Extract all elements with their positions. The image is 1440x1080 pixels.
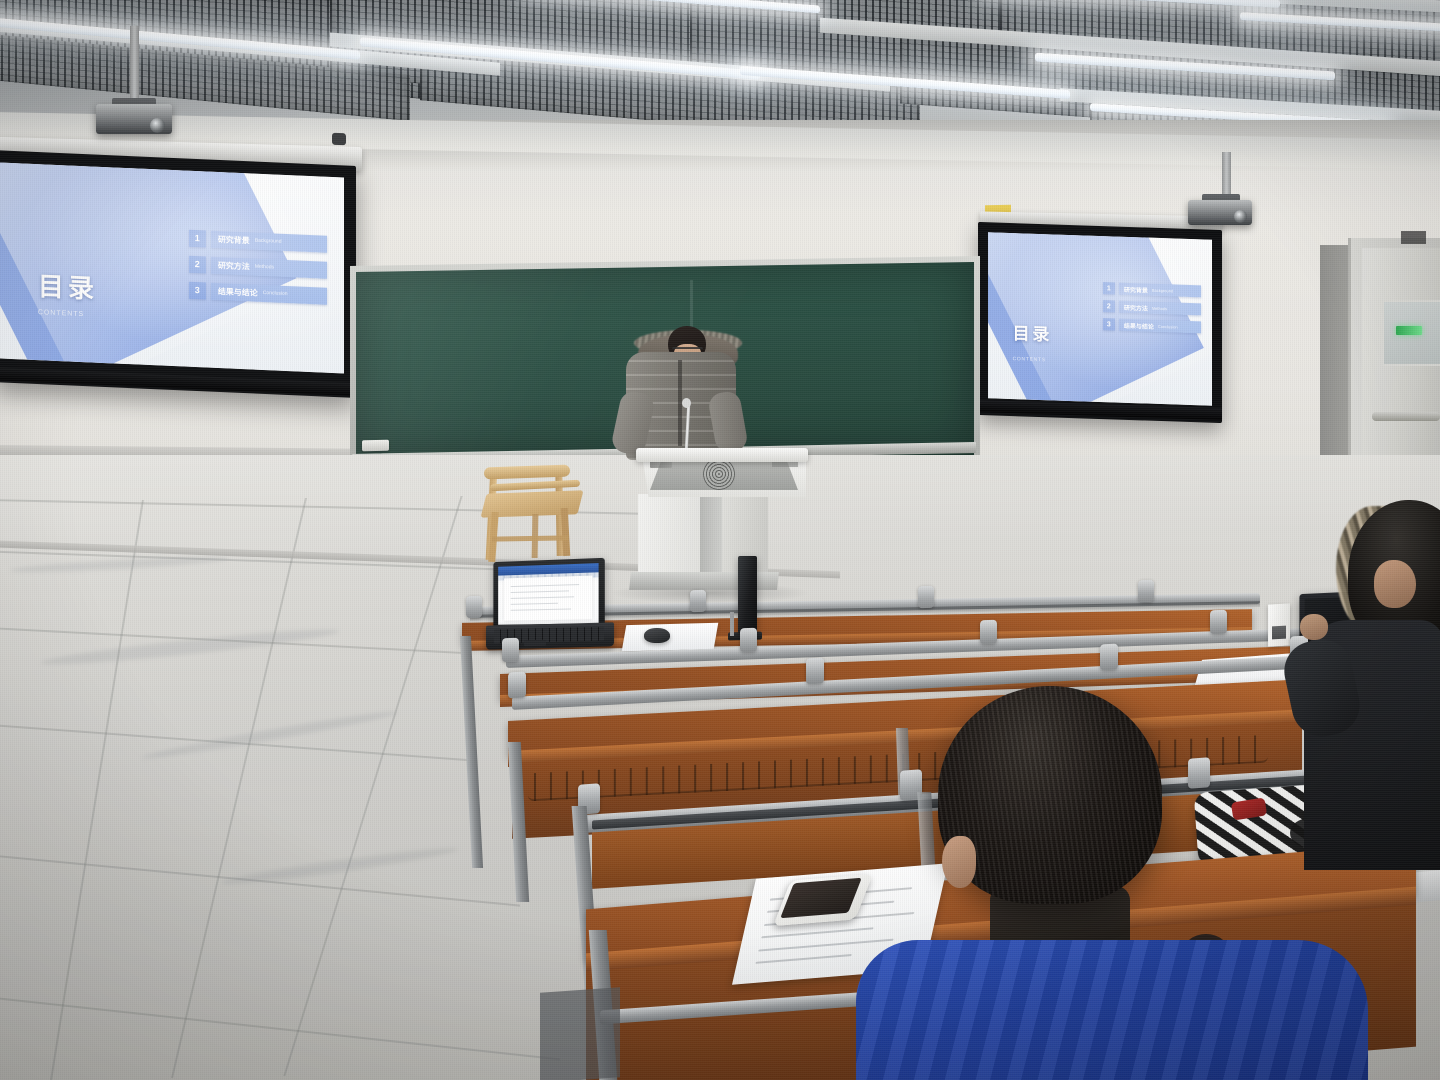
computer-mouse[interactable] (644, 628, 670, 643)
toc-label-cn: 结果与结论 (1124, 321, 1154, 331)
right-student-face (1374, 560, 1416, 608)
desk-bracket (980, 620, 997, 645)
toc-bar: 研究方法 Methods (211, 256, 327, 278)
podium-worktop (636, 448, 808, 462)
toc-label-en: Methods (255, 264, 274, 271)
toc-bar: 研究方法 Methods (1119, 301, 1201, 316)
projector-lens-icon (150, 118, 165, 133)
desk-shadow-area (540, 987, 620, 1080)
document-text-line (511, 590, 569, 593)
desk-bracket (466, 596, 482, 618)
student-ear (942, 836, 976, 888)
toc-label-cn: 研究背景 (1124, 285, 1148, 295)
slide-title-cn: 目录 (1013, 319, 1052, 345)
toc-label-en: Conclusion (263, 290, 288, 297)
podium-column-shade (700, 494, 722, 580)
desk-bracket (690, 590, 706, 612)
projector-lens-icon (1234, 210, 1247, 223)
desk-bracket (502, 638, 519, 663)
laptop-trackpad[interactable] (524, 640, 546, 647)
speaker-stand-pole (730, 612, 734, 636)
toc-label-en: Methods (1152, 306, 1167, 312)
podium-label (772, 462, 798, 467)
door-push-bar[interactable] (1372, 412, 1440, 421)
document-text-line (511, 603, 558, 605)
microphone-icon (682, 398, 691, 408)
laptop-screen (498, 563, 598, 625)
left-projection-screen: 目录 CONTENTS 1 研究背景 Background 2 研究方法 Met… (0, 162, 344, 373)
toc-label-en: Conclusion (1158, 324, 1178, 330)
lecture-hall-photo: 目录 CONTENTS 1 研究背景 Background 2 研究方法 Met… (0, 0, 1440, 1080)
slide-contents: 目录 CONTENTS 1 研究背景 Background 2 研究方法 Met… (0, 162, 344, 373)
toc-number: 2 (189, 256, 206, 274)
slide-title-en: CONTENTS (1013, 356, 1046, 363)
paper-sheet (622, 623, 719, 652)
document-text-line (511, 596, 574, 599)
toc-number: 1 (189, 230, 206, 248)
desk-bracket (508, 672, 526, 699)
toc-number: 3 (189, 282, 206, 300)
desk-bracket (1100, 644, 1118, 671)
toc-bar: 研究背景 Background (211, 230, 327, 252)
toc-label-cn: 结果与结论 (218, 286, 258, 299)
door-placard (1401, 231, 1426, 244)
toc-bar: 研究背景 Background (1119, 283, 1201, 298)
chalk-eraser (362, 440, 389, 452)
toc-label-en: Background (1152, 288, 1173, 294)
student-jacket-texture (856, 940, 1368, 1080)
desk-bracket (806, 658, 824, 685)
toc-label-cn: 研究背景 (218, 234, 250, 246)
column-speaker (738, 556, 757, 634)
laptop-document (504, 575, 592, 621)
toc-item: 1 研究背景 Background (189, 230, 327, 253)
right-student-hand (1300, 614, 1328, 640)
toc-label-cn: 研究方法 (218, 260, 250, 272)
document-text-line (511, 584, 580, 587)
document-text-line (511, 609, 571, 611)
desk-bracket (1138, 580, 1154, 602)
exit-sign-icon (1396, 326, 1422, 335)
toc-item: 2 研究方法 Methods (1103, 301, 1201, 316)
slide-title-cn: 目录 (38, 266, 98, 306)
slide-toc-list: 1 研究背景 Background 2 研究方法 Methods 3 (189, 230, 327, 305)
toc-item: 2 研究方法 Methods (189, 256, 327, 279)
desk-bracket (1210, 610, 1227, 635)
toc-label-en: Background (255, 238, 282, 245)
carton-label (1272, 626, 1286, 640)
right-projection-screen: 目录 CONTENTS 1 研究背景 Background 2 研究方法 Met… (988, 232, 1212, 405)
bench-bracket (1188, 757, 1210, 788)
handout-text-line (761, 928, 873, 939)
toc-number: 2 (1103, 301, 1115, 313)
handout-text-line (758, 938, 893, 951)
handout-text-line (756, 954, 852, 964)
left-projector-pole (130, 26, 139, 106)
toc-number: 3 (1103, 319, 1115, 331)
slide-toc-list: 1 研究背景 Background 2 研究方法 Methods 3 (1103, 283, 1201, 334)
speaker-grille-icon (703, 458, 735, 490)
desk-bracket (918, 586, 934, 608)
slide-contents: 目录 CONTENTS 1 研究背景 Background 2 研究方法 Met… (988, 232, 1212, 405)
wall-camera-icon (332, 133, 346, 145)
toc-label-cn: 研究方法 (1124, 303, 1148, 313)
toc-item: 1 研究背景 Background (1103, 283, 1201, 298)
desk-bracket (740, 628, 757, 653)
toc-number: 1 (1103, 283, 1115, 295)
